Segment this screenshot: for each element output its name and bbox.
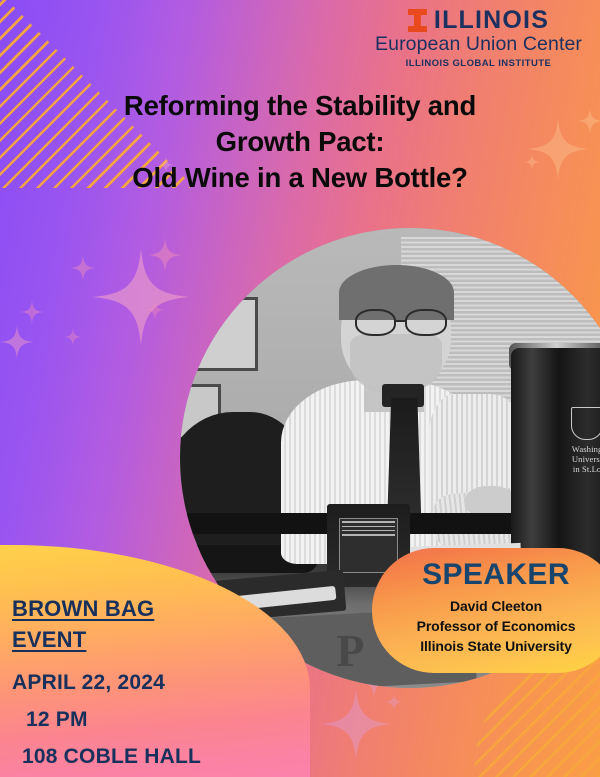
photo-glasses-left — [355, 309, 396, 337]
logo-unit-name: European Union Center — [375, 35, 582, 55]
event-poster: ILLINOIS European Union Center ILLINOIS … — [0, 0, 600, 777]
event-time: 12 PM — [12, 708, 304, 732]
speaker-heading: SPEAKER — [372, 558, 600, 591]
event-kicker-line-1: BROWN BAG — [12, 594, 304, 624]
event-details-text: BROWN BAG EVENT APRIL 22, 2024 12 PM 108… — [12, 594, 304, 769]
sparkle-icon — [385, 693, 403, 711]
illinois-logo: ILLINOIS European Union Center ILLINOIS … — [375, 8, 582, 68]
logo-primary-row: ILLINOIS — [375, 8, 582, 33]
speaker-details: David Cleeton Professor of Economics Ill… — [372, 597, 600, 657]
tumbler-text-line-2: Universi — [543, 454, 600, 464]
speaker-affiliation: Illinois State University — [372, 637, 600, 657]
tumbler-text-line-3: in St.Lo — [543, 464, 600, 474]
sparkle-icon — [0, 325, 34, 359]
event-kicker-line-2: EVENT — [12, 625, 304, 655]
event-location: 108 COBLE HALL — [12, 745, 304, 769]
sparkle-icon — [64, 328, 82, 346]
photo-wall-frame — [189, 297, 258, 371]
sparkle-icon — [320, 688, 392, 760]
photo-glasses-bridge — [396, 320, 407, 322]
speaker-role: Professor of Economics — [372, 617, 600, 637]
sparkle-icon — [145, 300, 165, 320]
poster-title: Reforming the Stability and Growth Pact:… — [0, 88, 600, 195]
sparkle-icon — [148, 238, 182, 272]
photo-tumbler-crest-icon — [571, 407, 600, 439]
title-line-2: Growth Pact: — [28, 124, 572, 160]
title-line-3: Old Wine in a New Bottle? — [28, 160, 572, 196]
logo-illinois-text: ILLINOIS — [434, 8, 549, 33]
sparkle-icon — [20, 300, 44, 324]
illinois-block-i-icon — [408, 9, 427, 32]
sparkle-icon — [92, 248, 190, 346]
sparkle-icon — [70, 255, 96, 281]
photo-glasses-right — [405, 309, 446, 337]
logo-institute-name: ILLINOIS GLOBAL INSTITUTE — [375, 59, 582, 69]
tumbler-text-line-1: Washing — [543, 444, 600, 454]
speaker-name: David Cleeton — [372, 597, 600, 617]
speaker-panel: SPEAKER David Cleeton Professor of Econo… — [372, 548, 600, 673]
event-date: APRIL 22, 2024 — [12, 671, 304, 695]
photo-tumbler-text: Washing Universi in St.Lo — [543, 444, 600, 474]
title-line-1: Reforming the Stability and — [28, 88, 572, 124]
